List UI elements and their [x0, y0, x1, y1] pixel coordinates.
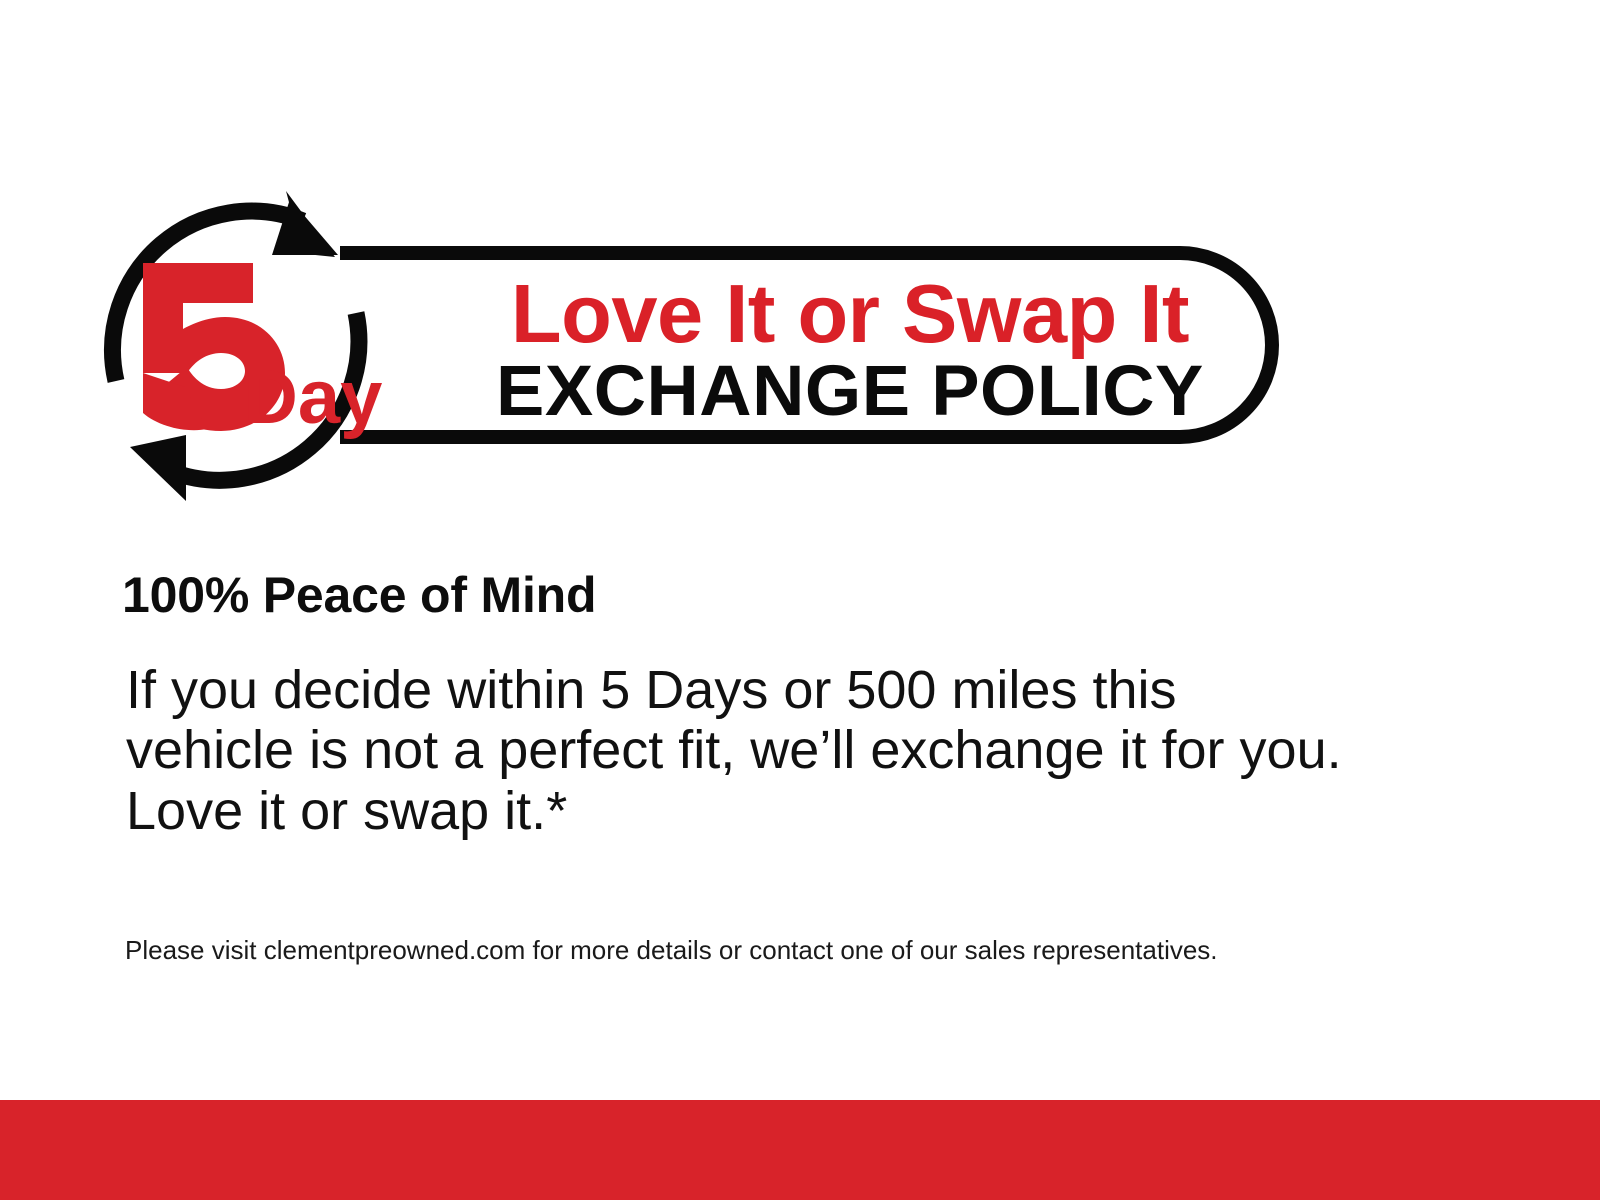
cycle-arrowhead-bottom [130, 435, 186, 501]
badge-title-block: Love It or Swap It EXCHANGE POLICY [420, 245, 1280, 455]
badge-lockup: Day Love It or Swap It EXCHANGE POLICY [90, 185, 1300, 505]
badge-title-secondary: EXCHANGE POLICY [496, 356, 1204, 427]
badge-title-primary: Love It or Swap It [511, 273, 1189, 354]
peace-of-mind-headline: 100% Peace of Mind [122, 568, 596, 623]
policy-footnote: Please visit clementpreowned.com for mor… [125, 934, 1445, 968]
day-wordmark: Day [243, 355, 382, 440]
five-day-mark: Day [125, 255, 385, 435]
policy-description-paragraph: If you decide within 5 Days or 500 miles… [126, 660, 1356, 841]
bottom-accent-bar [0, 1100, 1600, 1200]
exchange-policy-page: Day Love It or Swap It EXCHANGE POLICY 1… [0, 0, 1600, 1200]
